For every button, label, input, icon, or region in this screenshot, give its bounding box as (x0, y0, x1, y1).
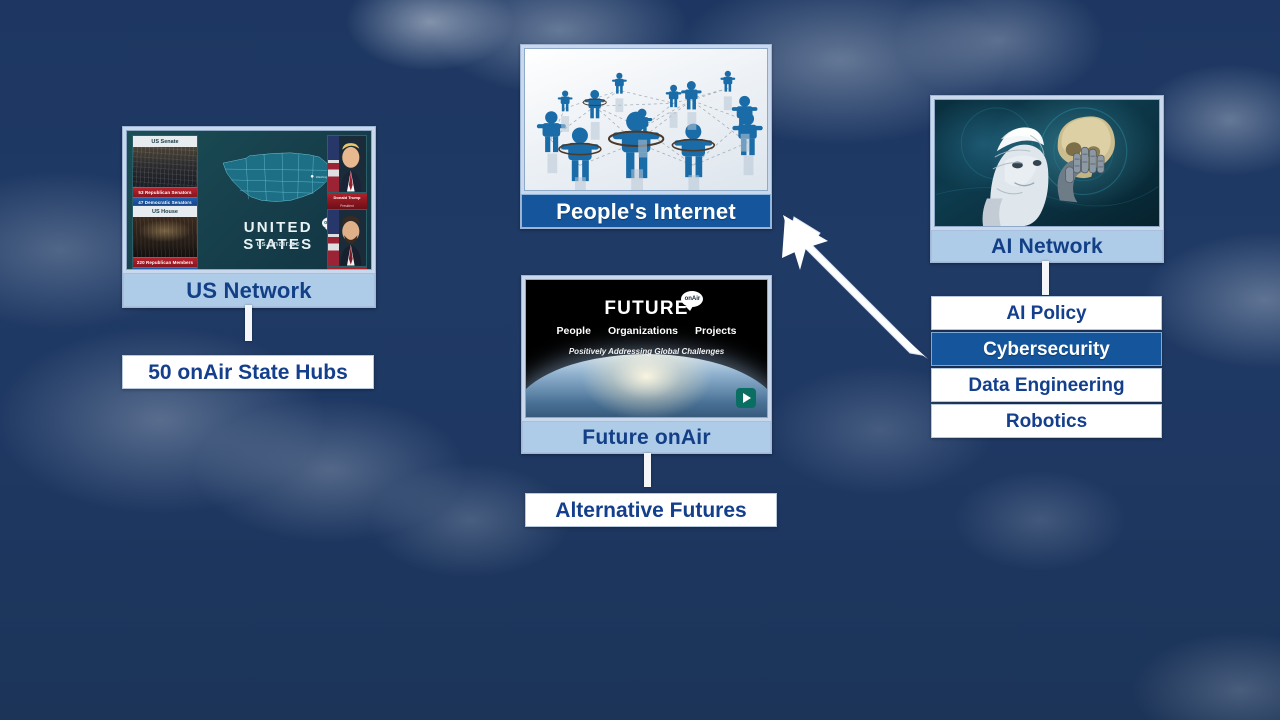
us-house-panel: US House 220 Republican Members 215 Demo… (132, 205, 198, 270)
future-nav-people[interactable]: People (557, 325, 591, 337)
ai-network-label[interactable]: AI Network (931, 230, 1163, 262)
ai-network-card[interactable]: AI Network (930, 95, 1164, 263)
us-network-label[interactable]: US Network (123, 273, 375, 307)
us-map-graphic: Washington, DC (215, 145, 342, 211)
us-network-artwork: Washington, DC UNITED STATES us.onair.cc… (127, 131, 371, 269)
future-onair-thumbnail: FUTURE onAir People Organizations Projec… (525, 279, 768, 418)
earth-horizon-graphic (525, 354, 768, 418)
peoples-internet-thumbnail (524, 48, 768, 191)
future-nav-projects[interactable]: Projects (695, 325, 736, 337)
chip-50-onair-state-hubs[interactable]: 50 onAir State Hubs (122, 355, 374, 389)
play-icon[interactable] (736, 388, 756, 408)
chip-alternative-futures[interactable]: Alternative Futures (525, 493, 777, 527)
future-tagline: Positively Addressing Global Challenges (526, 347, 767, 356)
house-democratic-bar: 215 Democratic Members (133, 267, 197, 270)
chip-cybersecurity[interactable]: Cybersecurity (931, 332, 1162, 366)
future-title: FUTURE (526, 298, 767, 320)
connector-future-onair-to-alternative-futures (644, 453, 651, 487)
node-future-onair[interactable]: FUTURE onAir People Organizations Projec… (521, 275, 772, 454)
future-nav-organizations[interactable]: Organizations (608, 325, 678, 337)
chip-data-engineering[interactable]: Data Engineering (931, 368, 1162, 402)
portrait-president: Donald Trump President (327, 135, 367, 209)
peoples-internet-label[interactable]: People's Internet (521, 194, 771, 228)
us-senate-panel: US Senate 53 Republican Senators 47 Demo… (132, 135, 198, 208)
president-role: President (327, 202, 367, 209)
chip-robotics[interactable]: Robotics (931, 404, 1162, 438)
node-us-network[interactable]: Washington, DC UNITED STATES us.onair.cc… (122, 126, 376, 308)
us-senate-heading: US Senate (133, 136, 197, 147)
president-name: Donald Trump (327, 193, 367, 202)
future-onair-artwork: FUTURE onAir People Organizations Projec… (526, 280, 767, 417)
connector-us-network-to-state-hubs (245, 305, 252, 341)
house-republican-bar: 220 Republican Members (133, 257, 197, 267)
us-network-card[interactable]: Washington, DC UNITED STATES us.onair.cc… (122, 126, 376, 308)
ai-network-thumbnail (934, 99, 1160, 227)
peoples-internet-artwork (525, 49, 767, 190)
android-skull-graphic (935, 100, 1159, 226)
ai-network-artwork (935, 100, 1159, 226)
chip-ai-policy[interactable]: AI Policy (931, 296, 1162, 330)
network-map-canvas: Washington, DC UNITED STATES us.onair.cc… (0, 0, 1280, 720)
connector-ai-network-to-subitems (1042, 261, 1049, 295)
node-ai-network[interactable]: AI Network (930, 95, 1164, 263)
future-onair-label[interactable]: Future onAir (522, 421, 771, 453)
peoples-internet-card[interactable]: People's Internet (520, 44, 772, 229)
vice-president-name: JD Vance (327, 267, 367, 270)
portrait-vice-president: JD Vance Vice President (327, 209, 367, 270)
us-network-thumbnail: Washington, DC UNITED STATES us.onair.cc… (126, 130, 372, 270)
node-peoples-internet[interactable]: People's Internet (520, 44, 772, 229)
us-house-heading: US House (133, 206, 197, 217)
people-network-graphic (525, 49, 767, 190)
future-onair-card[interactable]: FUTURE onAir People Organizations Projec… (521, 275, 772, 454)
future-nav: People Organizations Projects (526, 325, 767, 337)
us-senate-photo (133, 147, 197, 187)
ai-network-subitem-list: AI Policy Cybersecurity Data Engineering… (931, 296, 1162, 440)
senate-republican-bar: 53 Republican Senators (133, 187, 197, 197)
us-house-photo (133, 217, 197, 257)
